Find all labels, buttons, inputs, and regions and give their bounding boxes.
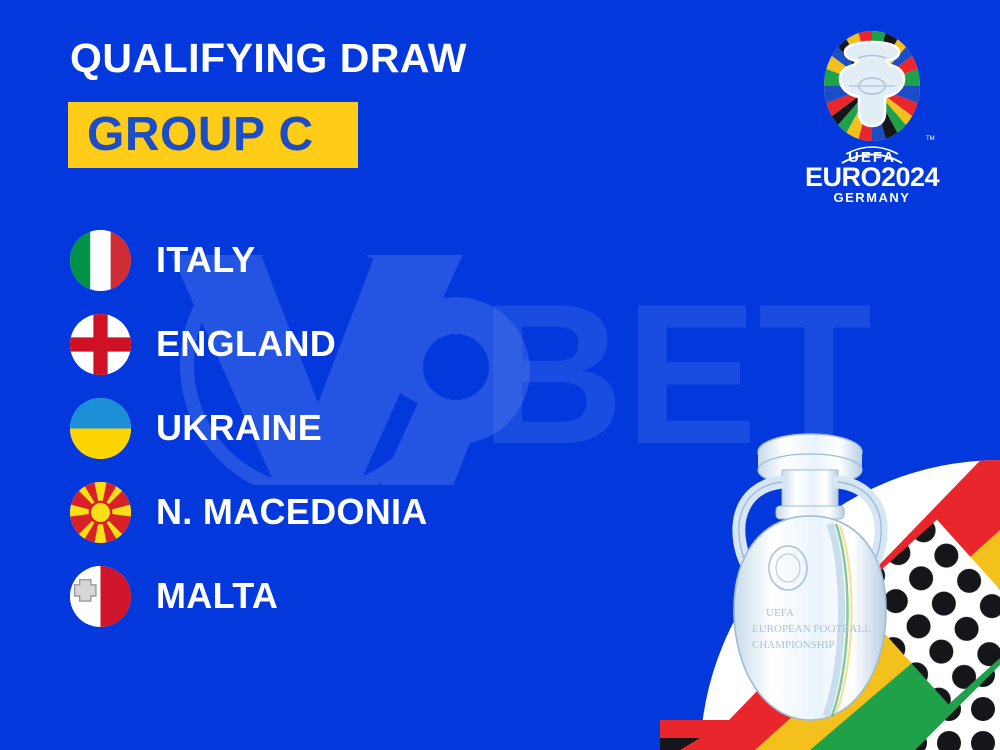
team-name: ITALY bbox=[156, 242, 256, 278]
team-list: ITALY ENGLAND UKRAINE bbox=[70, 218, 428, 638]
trophy-artwork: UEFA EUROPEAN FOOTBALL CHAMPIONSHIP bbox=[660, 420, 1000, 750]
list-item: ENGLAND bbox=[70, 302, 428, 386]
italy-flag-icon bbox=[70, 230, 131, 291]
page-title: QUALIFYING DRAW bbox=[70, 38, 467, 79]
england-flag-icon bbox=[70, 314, 131, 375]
list-item: MALTA bbox=[70, 554, 428, 638]
list-item: ITALY bbox=[70, 218, 428, 302]
group-banner: GROUP C bbox=[68, 102, 358, 168]
euro-2024-wordmark: EURO2024 bbox=[805, 162, 940, 192]
henri-delaunay-trophy: UEFA EUROPEAN FOOTBALL CHAMPIONSHIP bbox=[734, 434, 886, 720]
uefa-euro-2024-logo: TM UEFA EURO2024 GERMANY bbox=[802, 28, 942, 208]
north-macedonia-flag-icon bbox=[70, 482, 131, 543]
euro-2024-group-c-graphic: BET QUALIFYING DRAW GROUP C ITALY bbox=[0, 0, 1000, 750]
trophy-inscription-line3: CHAMPIONSHIP bbox=[752, 639, 835, 651]
trophy-inscription-line2: EUROPEAN FOOTBALL bbox=[752, 623, 871, 635]
host-country-label: GERMANY bbox=[834, 190, 911, 205]
list-item: UKRAINE bbox=[70, 386, 428, 470]
trophy-inscription-line1: UEFA bbox=[766, 607, 794, 619]
team-name: N. MACEDONIA bbox=[156, 494, 428, 530]
trademark-mark: TM bbox=[926, 136, 935, 142]
group-label: GROUP C bbox=[68, 111, 314, 159]
team-name: MALTA bbox=[156, 578, 278, 614]
list-item: N. MACEDONIA bbox=[70, 470, 428, 554]
team-name: ENGLAND bbox=[156, 326, 336, 362]
ukraine-flag-icon bbox=[70, 398, 131, 459]
team-name: UKRAINE bbox=[156, 410, 322, 446]
malta-flag-icon bbox=[70, 566, 131, 627]
